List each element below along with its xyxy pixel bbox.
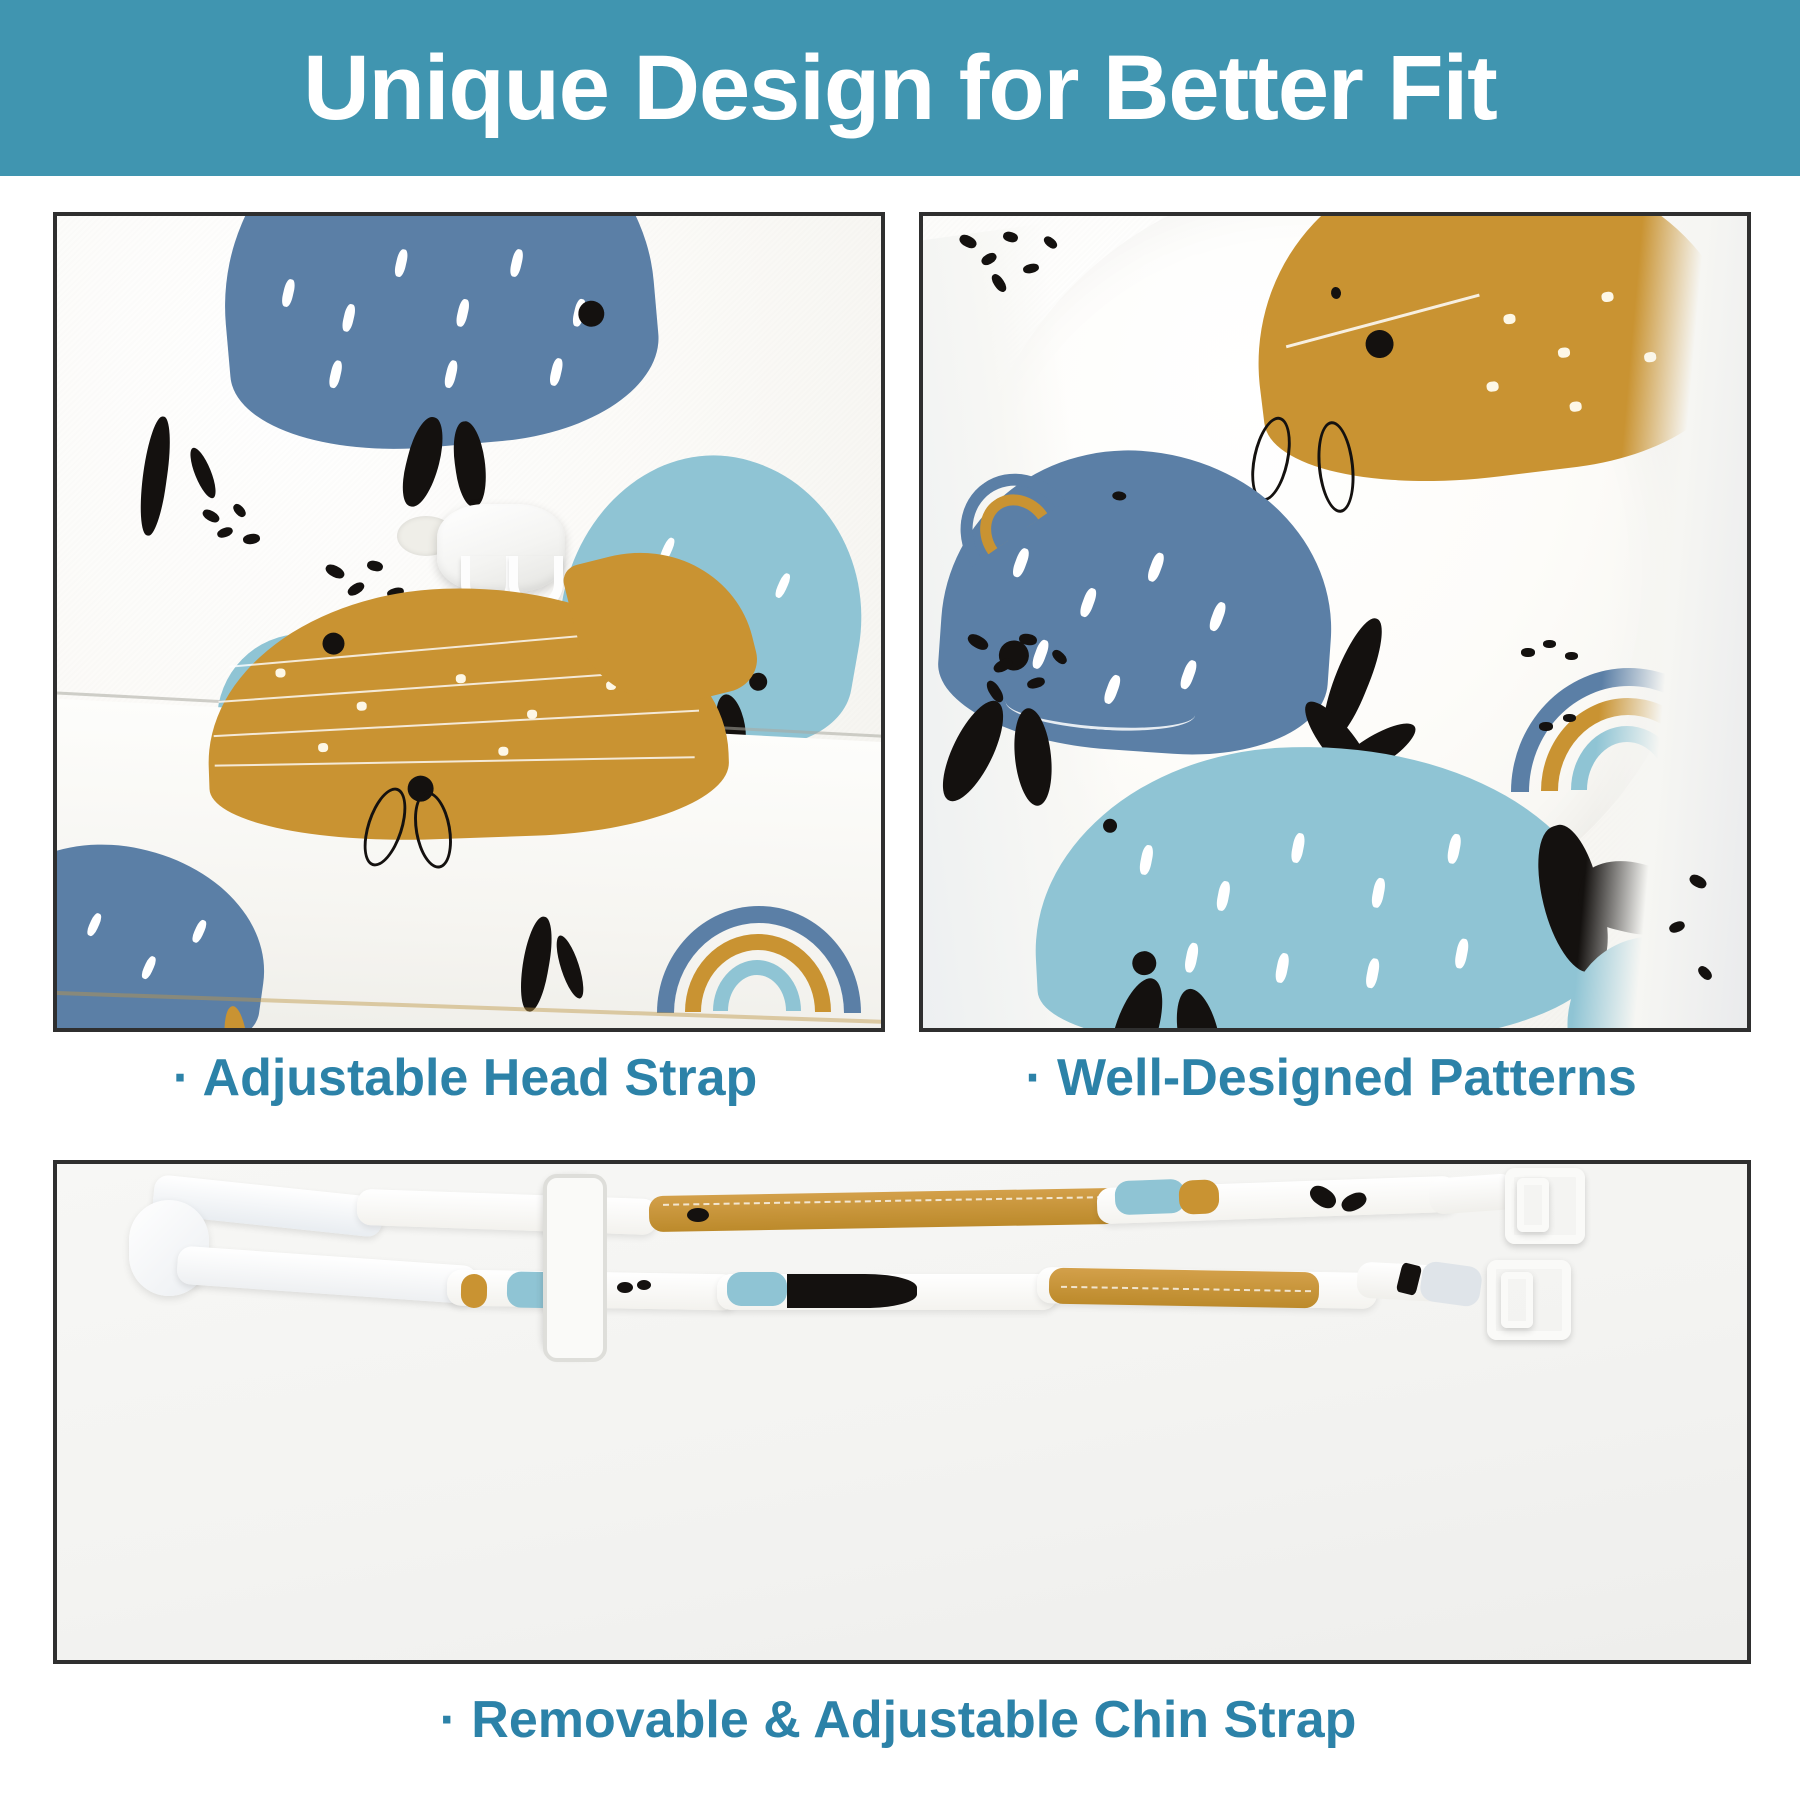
photo-chin-strap [57, 1164, 1747, 1660]
caption-head-strap: · Adjustable Head Strap [53, 1048, 877, 1108]
chin-strap-print-teal [727, 1272, 787, 1306]
caption-patterns: · Well-Designed Patterns [919, 1048, 1743, 1108]
hook-clip-lower-bar[interactable] [1501, 1272, 1533, 1328]
photo-head-strap [57, 216, 881, 1028]
photo-panel-patterns [919, 212, 1751, 1032]
slider-buckle-opening [543, 1174, 607, 1362]
chin-strap-print-teal [1114, 1179, 1185, 1215]
chin-strap-print-pale [1419, 1260, 1484, 1308]
photo-panel-head-strap [53, 212, 885, 1032]
studio-background [57, 1164, 1747, 1660]
chin-strap-print-mustard [1178, 1179, 1219, 1214]
photo-patterns [923, 216, 1747, 1028]
hook-clip-upper-bar[interactable] [1517, 1178, 1549, 1232]
header-banner: Unique Design for Better Fit [0, 0, 1800, 176]
page-title: Unique Design for Better Fit [303, 42, 1497, 134]
caption-chin-strap: · Removable & Adjustable Chin Strap [53, 1690, 1743, 1750]
chin-strap-print-mustard [461, 1274, 488, 1308]
photo-panel-chin-strap [53, 1160, 1751, 1664]
chin-strap-print-black [787, 1274, 917, 1308]
chin-strap-upper-tip [1428, 1173, 1516, 1215]
